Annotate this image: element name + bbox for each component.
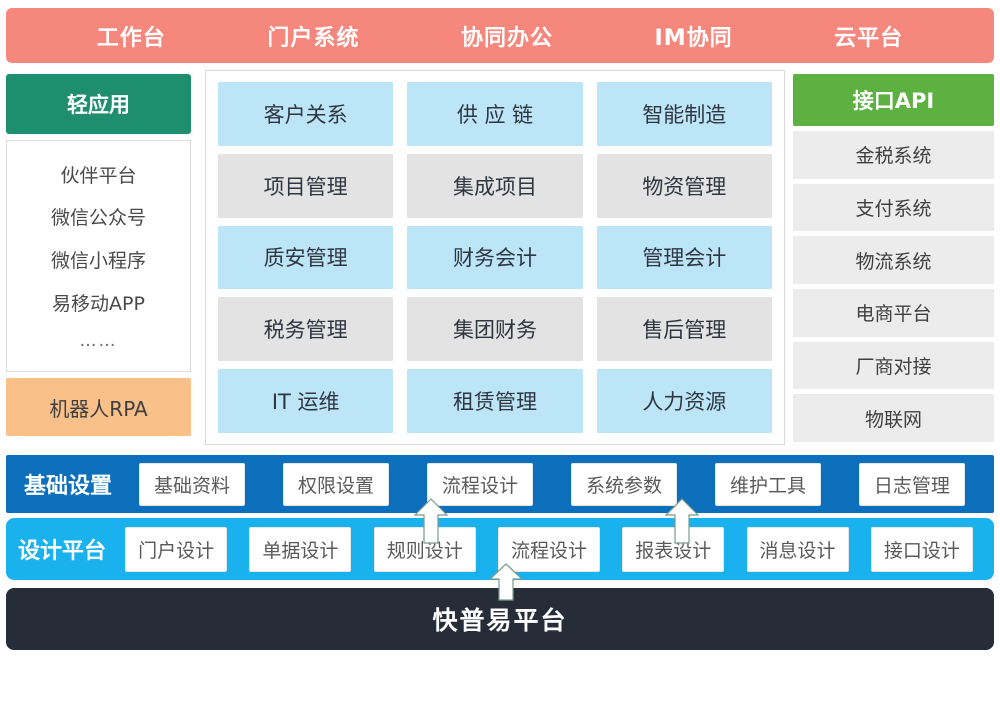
top-tab-collaborative-office[interactable]: 协同办公 [461,20,553,52]
api-item-iot[interactable]: 物联网 [793,394,994,442]
list-item-partner-platform[interactable]: 伙伴平台 [60,161,136,188]
architecture-diagram: 工作台 门户系统 协同办公 IM协同 云平台 轻应用 伙伴平台 微信公众号 微信… [0,0,1000,705]
top-tab-workbench[interactable]: 工作台 [97,20,166,52]
module-financial-accounting[interactable]: 财务会计 [407,226,582,290]
module-customer-relations[interactable]: 客户关系 [218,82,393,146]
left-header-light-apps: 轻应用 [6,74,191,134]
right-column: 接口API 金税系统 支付系统 物流系统 电商平台 厂商对接 物联网 [793,74,994,442]
list-item-wechat-official-account[interactable]: 微信公众号 [51,203,146,230]
module-it-operations[interactable]: IT 运维 [218,369,393,433]
arrow-up-icon-rules-to-basic [414,497,448,545]
design-platform-chip-group: 门户设计 单据设计 规则设计 流程设计 报表设计 消息设计 接口设计 [106,527,984,572]
chip-document-design[interactable]: 单据设计 [249,527,351,572]
module-group-finance[interactable]: 集团财务 [407,297,582,361]
module-grid: 客户关系 供 应 链 智能制造 项目管理 集成项目 物资管理 质安管理 财务会计… [218,82,772,433]
chip-maintenance-tools[interactable]: 维护工具 [715,463,821,506]
module-tax-management[interactable]: 税务管理 [218,297,393,361]
list-item-mobile-app[interactable]: 易移动APP [52,289,145,316]
module-material-management[interactable]: 物资管理 [597,154,772,218]
chip-basic-data[interactable]: 基础资料 [139,463,245,506]
design-platform-label: 设计平台 [18,533,106,565]
chip-system-parameters[interactable]: 系统参数 [571,463,677,506]
arrow-up-icon-reports-to-basic [665,497,699,545]
list-item-wechat-mini-program[interactable]: 微信小程序 [51,246,146,273]
chip-message-design[interactable]: 消息设计 [747,527,849,572]
left-column: 轻应用 伙伴平台 微信公众号 微信小程序 易移动APP …… 机器人RPA [6,74,191,442]
right-header-interface-api: 接口API [793,74,994,126]
left-footer-robot-rpa[interactable]: 机器人RPA [6,378,191,436]
arrow-up-icon-platform-to-design [489,562,523,602]
chip-portal-design[interactable]: 门户设计 [125,527,227,572]
chip-log-management[interactable]: 日志管理 [859,463,965,506]
top-tab-im-collaboration[interactable]: IM协同 [655,20,733,52]
basic-settings-chip-group: 基础资料 权限设置 流程设计 系统参数 维护工具 日志管理 [112,463,984,506]
module-project-management[interactable]: 项目管理 [218,154,393,218]
chip-permission-settings[interactable]: 权限设置 [283,463,389,506]
basic-settings-label: 基础设置 [24,468,112,500]
api-item-logistics-system[interactable]: 物流系统 [793,236,994,284]
module-after-sales-management[interactable]: 售后管理 [597,297,772,361]
module-human-resources[interactable]: 人力资源 [597,369,772,433]
module-integrated-project[interactable]: 集成项目 [407,154,582,218]
module-supply-chain[interactable]: 供 应 链 [407,82,582,146]
basic-settings-bar: 基础设置 基础资料 权限设置 流程设计 系统参数 维护工具 日志管理 [6,455,994,513]
module-quality-safety-management[interactable]: 质安管理 [218,226,393,290]
left-app-list: 伙伴平台 微信公众号 微信小程序 易移动APP …… [6,140,191,372]
api-item-payment-system[interactable]: 支付系统 [793,184,994,232]
api-item-ecommerce-platform[interactable]: 电商平台 [793,289,994,337]
chip-interface-design[interactable]: 接口设计 [871,527,973,572]
top-tab-portal-system[interactable]: 门户系统 [267,20,359,52]
list-item-ellipsis: …… [80,331,118,351]
module-management-accounting[interactable]: 管理会计 [597,226,772,290]
top-navigation-bar: 工作台 门户系统 协同办公 IM协同 云平台 [6,8,994,63]
api-item-vendor-integration[interactable]: 厂商对接 [793,342,994,390]
module-lease-management[interactable]: 租赁管理 [407,369,582,433]
module-smart-manufacturing[interactable]: 智能制造 [597,82,772,146]
api-item-golden-tax-system[interactable]: 金税系统 [793,131,994,179]
top-tab-cloud-platform[interactable]: 云平台 [834,20,903,52]
center-module-panel: 客户关系 供 应 链 智能制造 项目管理 集成项目 物资管理 质安管理 财务会计… [205,70,785,445]
